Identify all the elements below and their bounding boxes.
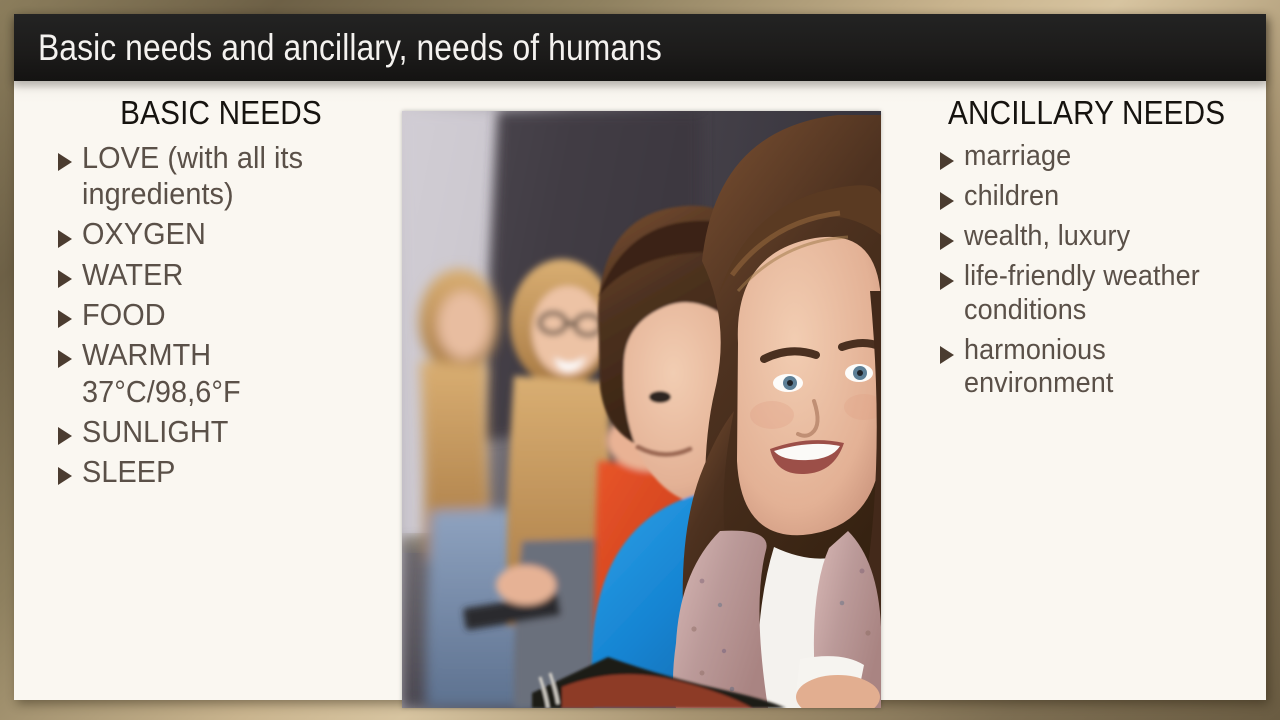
list-item-label: marriage bbox=[964, 140, 1247, 174]
triangle-bullet-icon bbox=[58, 427, 72, 445]
triangle-bullet-icon bbox=[940, 192, 954, 210]
list-item-label: children bbox=[964, 180, 1247, 214]
list-item-label: SLEEP bbox=[82, 454, 365, 490]
list-item-label: LOVE (with all its bbox=[82, 140, 365, 176]
list-item: WARMTH 37°C/98,6°F bbox=[56, 337, 386, 410]
list-item-subline: environment bbox=[964, 367, 1247, 401]
triangle-bullet-icon bbox=[940, 232, 954, 250]
list-item: OXYGEN bbox=[56, 216, 386, 252]
list-item-label: WARMTH bbox=[82, 337, 365, 373]
page-title: Basic needs and ancillary, needs of huma… bbox=[38, 27, 662, 69]
triangle-bullet-icon bbox=[940, 272, 954, 290]
triangle-bullet-icon bbox=[58, 350, 72, 368]
basic-needs-heading: BASIC NEEDS bbox=[73, 95, 370, 132]
triangle-bullet-icon bbox=[940, 152, 954, 170]
list-item: LOVE (with all its ingredients) bbox=[56, 140, 386, 213]
basic-needs-list: LOVE (with all its ingredients) OXYGEN W… bbox=[56, 140, 386, 490]
list-item-label: harmonious bbox=[964, 334, 1247, 368]
triangle-bullet-icon bbox=[58, 230, 72, 248]
list-item-label: life-friendly weather bbox=[964, 260, 1247, 294]
list-item: harmonious environment bbox=[938, 334, 1268, 402]
students-photo bbox=[402, 111, 881, 708]
slide-frame: Basic needs and ancillary, needs of huma… bbox=[0, 0, 1280, 720]
list-item-subline: ingredients) bbox=[82, 176, 365, 212]
list-item-subline: conditions bbox=[964, 294, 1247, 328]
list-item: marriage bbox=[938, 140, 1268, 174]
ancillary-needs-column: ANCILLARY NEEDS marriage children wealth… bbox=[938, 95, 1268, 407]
list-item-label: WATER bbox=[82, 257, 365, 293]
list-item-label: FOOD bbox=[82, 297, 365, 333]
list-item: wealth, luxury bbox=[938, 220, 1268, 254]
list-item: FOOD bbox=[56, 297, 386, 333]
list-item-label: SUNLIGHT bbox=[82, 414, 365, 450]
triangle-bullet-icon bbox=[58, 270, 72, 288]
triangle-bullet-icon bbox=[940, 346, 954, 364]
ancillary-needs-heading: ANCILLARY NEEDS bbox=[948, 95, 1236, 132]
list-item: SUNLIGHT bbox=[56, 414, 386, 450]
title-bar: Basic needs and ancillary, needs of huma… bbox=[14, 14, 1266, 81]
slide-body: BASIC NEEDS LOVE (with all its ingredien… bbox=[14, 81, 1266, 700]
triangle-bullet-icon bbox=[58, 467, 72, 485]
basic-needs-column: BASIC NEEDS LOVE (with all its ingredien… bbox=[56, 95, 386, 494]
list-item: life-friendly weather conditions bbox=[938, 260, 1268, 328]
triangle-bullet-icon bbox=[58, 153, 72, 171]
ancillary-needs-list: marriage children wealth, luxury life-fr… bbox=[938, 140, 1268, 401]
list-item-subline: 37°C/98,6°F bbox=[82, 374, 365, 410]
list-item-label: OXYGEN bbox=[82, 216, 365, 252]
list-item: children bbox=[938, 180, 1268, 214]
triangle-bullet-icon bbox=[58, 310, 72, 328]
list-item: SLEEP bbox=[56, 454, 386, 490]
list-item-label: wealth, luxury bbox=[964, 220, 1247, 254]
slide-card: Basic needs and ancillary, needs of huma… bbox=[14, 14, 1266, 700]
list-item: WATER bbox=[56, 257, 386, 293]
students-photo-illustration bbox=[402, 111, 881, 708]
